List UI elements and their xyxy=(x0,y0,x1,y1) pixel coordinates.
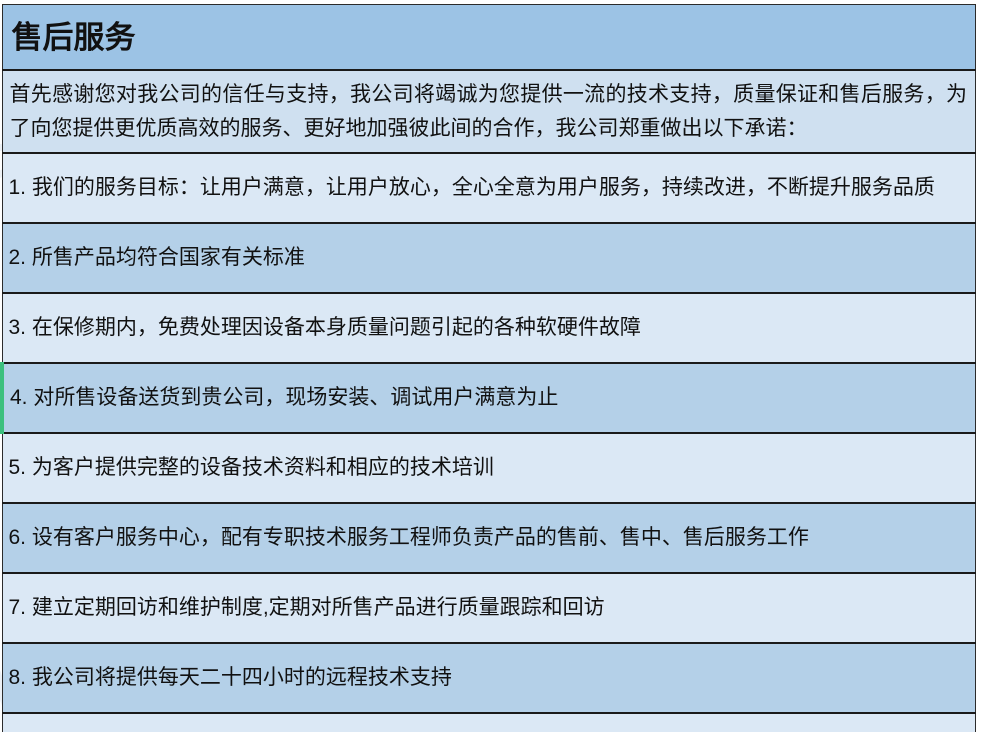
list-item: 5. 为客户提供完整的设备技术资料和相应的技术培训 xyxy=(3,453,976,483)
intro-row: 首先感谢您对我公司的信任与支持，我公司将竭诚为您提供一流的技术支持，质量保证和售… xyxy=(2,70,976,153)
list-item: 4. 对所售设备送货到贵公司，现场安装、调试用户满意为止 xyxy=(4,383,975,413)
list-item-cell: 4. 对所售设备送货到贵公司，现场安装、调试用户满意为止 xyxy=(2,363,976,433)
table-row: 1. 我们的服务目标：让用户满意，让用户放心，全心全意为用户服务，持续改进，不断… xyxy=(2,153,976,223)
document-page: chem17.com chem17.com chem17.com chem17.… xyxy=(0,0,986,732)
table-row: 8. 我公司将提供每天二十四小时的远程技术支持 xyxy=(2,643,976,713)
list-item-cell: 5. 为客户提供完整的设备技术资料和相应的技术培训 xyxy=(2,433,976,503)
list-item-cell: 2. 所售产品均符合国家有关标准 xyxy=(2,223,976,293)
top-gutter xyxy=(0,0,986,4)
title-cell: 售后服务 xyxy=(2,5,976,71)
list-item: 2. 所售产品均符合国家有关标准 xyxy=(3,243,976,273)
list-item-cell: 8. 我公司将提供每天二十四小时的远程技术支持 xyxy=(2,643,976,713)
list-item-cell: 6. 设有客户服务中心，配有专职技术服务工程师负责产品的售前、售中、售后服务工作 xyxy=(2,503,976,573)
list-item-cell: 3. 在保修期内，免费处理因设备本身质量问题引起的各种软硬件故障 xyxy=(2,293,976,363)
page-title: 售后服务 xyxy=(3,22,976,53)
table-row: 4. 对所售设备送货到贵公司，现场安装、调试用户满意为止 xyxy=(2,363,976,433)
list-item-cell: 7. 建立定期回访和维护制度,定期对所售产品进行质量跟踪和回访 xyxy=(2,573,976,643)
table-row: 7. 建立定期回访和维护制度,定期对所售产品进行质量跟踪和回访 xyxy=(2,573,976,643)
after-sales-service-table: 售后服务 首先感谢您对我公司的信任与支持，我公司将竭诚为您提供一流的技术支持，质… xyxy=(0,4,976,732)
list-item: 8. 我公司将提供每天二十四小时的远程技术支持 xyxy=(3,663,976,693)
intro-paragraph: 首先感谢您对我公司的信任与支持，我公司将竭诚为您提供一流的技术支持，质量保证和售… xyxy=(3,75,976,149)
table-row: 5. 为客户提供完整的设备技术资料和相应的技术培训 xyxy=(2,433,976,503)
list-item: 3. 在保修期内，免费处理因设备本身质量问题引起的各种软硬件故障 xyxy=(3,313,976,343)
list-item: 7. 建立定期回访和维护制度,定期对所售产品进行质量跟踪和回访 xyxy=(3,593,976,623)
table-row-partial xyxy=(2,713,976,732)
table-row: 2. 所售产品均符合国家有关标准 xyxy=(2,223,976,293)
list-item-cell: 1. 我们的服务目标：让用户满意，让用户放心，全心全意为用户服务，持续改进，不断… xyxy=(2,153,976,223)
intro-cell: 首先感谢您对我公司的信任与支持，我公司将竭诚为您提供一流的技术支持，质量保证和售… xyxy=(2,70,976,153)
list-item: 1. 我们的服务目标：让用户满意，让用户放心，全心全意为用户服务，持续改进，不断… xyxy=(3,173,976,203)
list-item-cell-partial xyxy=(2,713,976,732)
table-row: 6. 设有客户服务中心，配有专职技术服务工程师负责产品的售前、售中、售后服务工作 xyxy=(2,503,976,573)
table-header-row: 售后服务 xyxy=(2,5,976,71)
right-gutter xyxy=(976,0,986,732)
list-item: 6. 设有客户服务中心，配有专职技术服务工程师负责产品的售前、售中、售后服务工作 xyxy=(3,523,976,553)
table-row: 3. 在保修期内，免费处理因设备本身质量问题引起的各种软硬件故障 xyxy=(2,293,976,363)
